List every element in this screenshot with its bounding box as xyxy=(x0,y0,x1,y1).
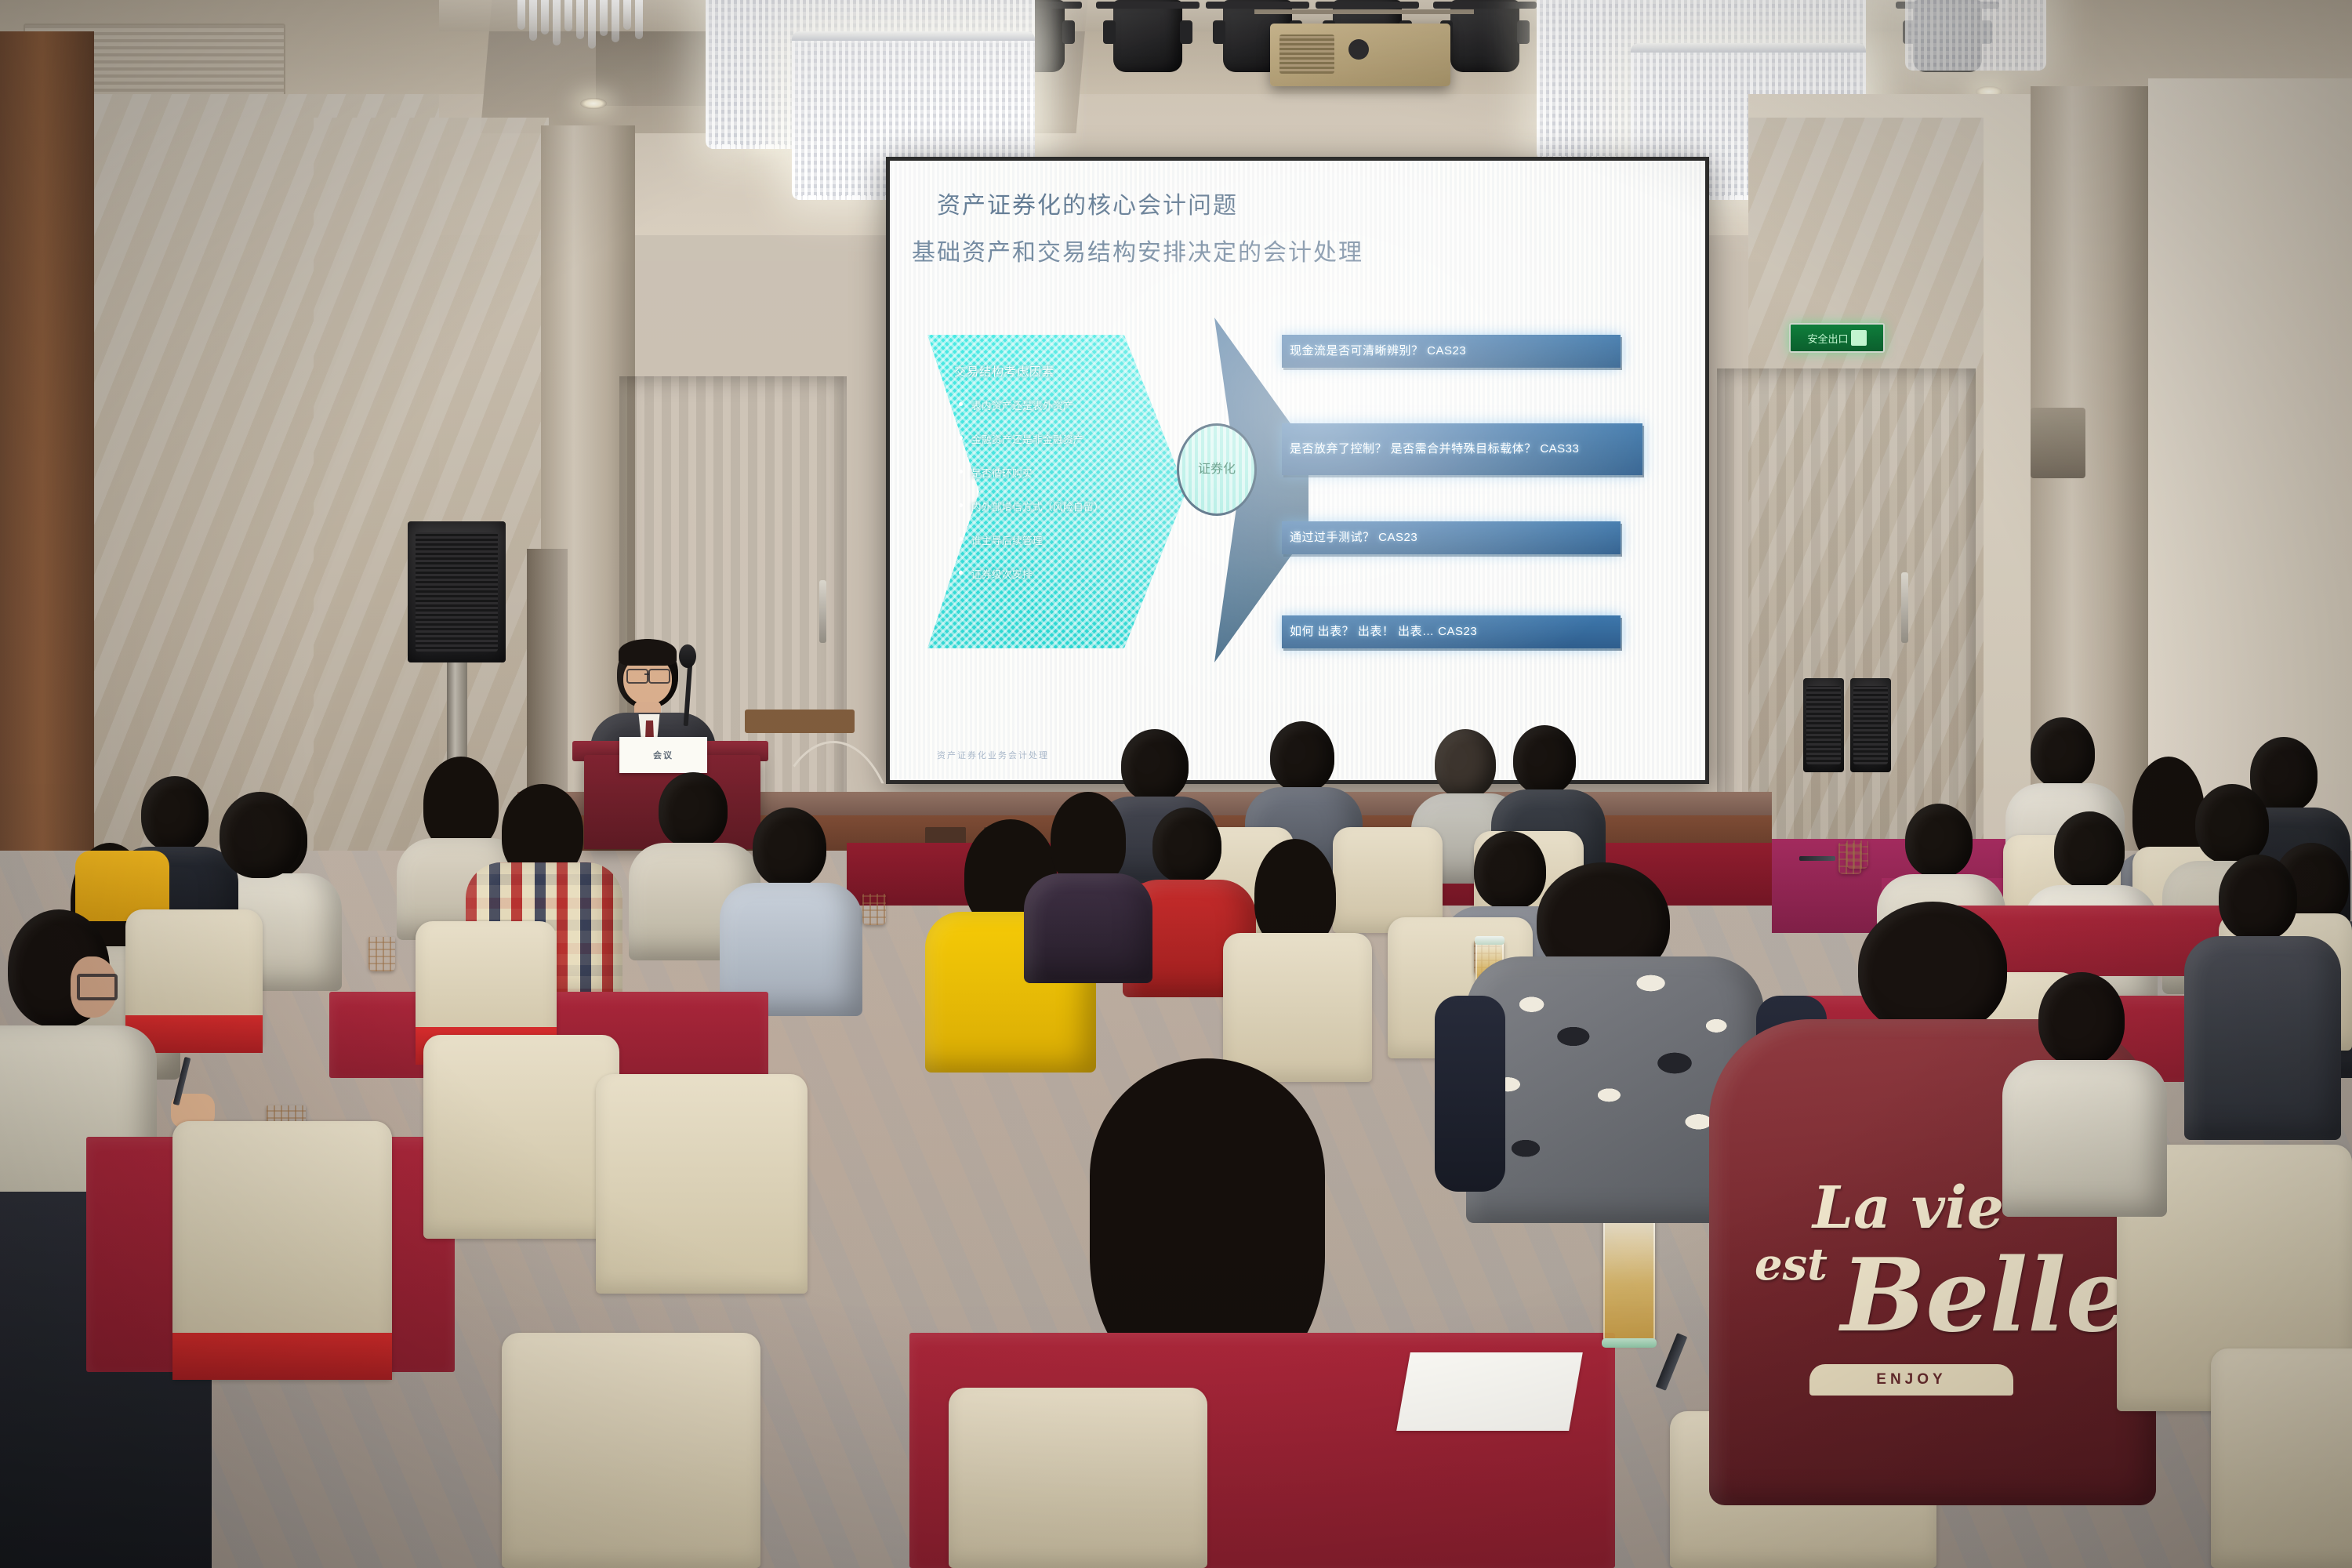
paper-sheet xyxy=(1396,1352,1583,1431)
podium-namecard: 会议 xyxy=(619,737,707,773)
chair xyxy=(596,1074,808,1294)
chandelier xyxy=(1905,0,2046,71)
wall-fixture xyxy=(2031,408,2085,478)
blue-box-2: 通过过手测试？ CAS23 xyxy=(1282,521,1621,554)
glasses-icon xyxy=(626,669,648,684)
slide-center-node: 证券化 xyxy=(1177,423,1257,516)
blue-box-2-label: 通过过手测试？ CAS23 xyxy=(1282,531,1425,546)
namecard-text: 会议 xyxy=(653,749,673,761)
pen xyxy=(1799,856,1835,861)
hoodie-line1: La vie xyxy=(1813,1174,2004,1242)
left-bullet-4: 谁主导后续管理 xyxy=(971,532,1043,547)
chair-foreground xyxy=(949,1388,1207,1568)
bullet-dot-icon xyxy=(959,470,963,474)
chair xyxy=(423,1035,619,1239)
blue-box-0: 现金流是否可清晰辨别？ CAS23 xyxy=(1282,335,1621,368)
glasses-bridge xyxy=(644,673,649,675)
bullet-dot-icon xyxy=(959,436,963,440)
bullet-dot-icon xyxy=(959,571,963,575)
left-bullet-1: 金融资产还是非金融资产 xyxy=(971,431,1083,446)
blue-box-3-label: 如何 出表？ 出表！ 出表… CAS23 xyxy=(1282,625,1485,640)
presenter-hair xyxy=(619,639,677,666)
tea-jar-foreground xyxy=(1603,1211,1655,1344)
microphone-icon xyxy=(679,644,696,668)
left-panel-heading: 交易结构考虑因素 xyxy=(954,363,1054,379)
glasses-icon xyxy=(77,974,118,1000)
chair-foreground xyxy=(2211,1348,2352,1568)
projector-mount xyxy=(1254,9,1474,14)
exit-sign-label: 安全出口 xyxy=(1807,331,1848,346)
floor-outlet-icon xyxy=(925,827,966,844)
bullet-dot-icon xyxy=(959,503,963,507)
paper-cup xyxy=(862,894,886,925)
wall-speaker xyxy=(1803,678,1844,772)
wood-wall-panel-left xyxy=(0,31,94,909)
projector-icon xyxy=(1270,24,1450,86)
running-man-icon xyxy=(1851,330,1867,346)
exit-sign: 安全出口 xyxy=(1789,323,1885,353)
left-bullet-5: 证券级次安排 xyxy=(971,566,1033,581)
stage-chair-back xyxy=(745,710,855,733)
loudspeaker xyxy=(408,521,506,662)
glasses-icon xyxy=(648,669,670,684)
slide-title: 资产证券化的核心会计问题 xyxy=(937,186,1238,220)
slide-subtitle: 基础资产和交易结构安排决定的会计处理 xyxy=(912,233,1363,267)
slide-footer: 资产证券化业务会计处理 xyxy=(937,749,1049,761)
wall-speaker xyxy=(1850,678,1891,772)
left-bullet-0: 表内资产还是表外资产 xyxy=(971,397,1073,412)
chair xyxy=(1223,933,1372,1082)
slide-left-chevron xyxy=(927,335,1186,648)
door-handle-icon[interactable] xyxy=(819,580,826,643)
door-handle-icon[interactable] xyxy=(1901,572,1908,643)
seminar-room-photo: 安全出口 资产证券化的核心会计问题 基础资产和交易结构安排决定的会计处理 交易结… xyxy=(0,0,2352,1568)
paper-cup xyxy=(368,937,395,971)
downlight-icon xyxy=(580,98,607,109)
hoodie-line3: Belle xyxy=(1841,1237,2129,1355)
paper-cup xyxy=(1838,843,1862,874)
camo-sleeve-left xyxy=(1435,996,1505,1192)
stage-light-icon xyxy=(1113,0,1182,72)
bullet-dot-icon xyxy=(959,537,963,541)
chair-foreground xyxy=(502,1333,760,1568)
left-bullet-2: 是否循环购买 xyxy=(971,465,1033,480)
blue-box-0-label: 现金流是否可清晰辨别？ CAS23 xyxy=(1282,344,1474,359)
bullet-dot-icon xyxy=(959,402,963,406)
blue-box-1: 是否放弃了控制？ 是否需合并特殊目标载体？ CAS33 xyxy=(1282,423,1642,475)
blue-box-1-label: 是否放弃了控制？ 是否需合并特殊目标载体？ CAS33 xyxy=(1282,442,1587,457)
chair-sash xyxy=(172,1333,392,1380)
slide-canvas: 资产证券化的核心会计问题 基础资产和交易结构安排决定的会计处理 交易结构考虑因素… xyxy=(890,161,1705,780)
hoodie-badge: ENJOY xyxy=(1809,1364,2013,1396)
crystal-drops xyxy=(517,0,674,71)
hoodie-line2: est xyxy=(1755,1239,1828,1290)
blue-box-3: 如何 出表？ 出表！ 出表… CAS23 xyxy=(1282,615,1621,648)
projection-screen: 资产证券化的核心会计问题 基础资产和交易结构安排决定的会计处理 交易结构考虑因素… xyxy=(886,157,1709,784)
left-bullet-3: 内外部增信方式（风险自留） xyxy=(971,499,1104,514)
center-node-label: 证券化 xyxy=(1198,463,1236,477)
